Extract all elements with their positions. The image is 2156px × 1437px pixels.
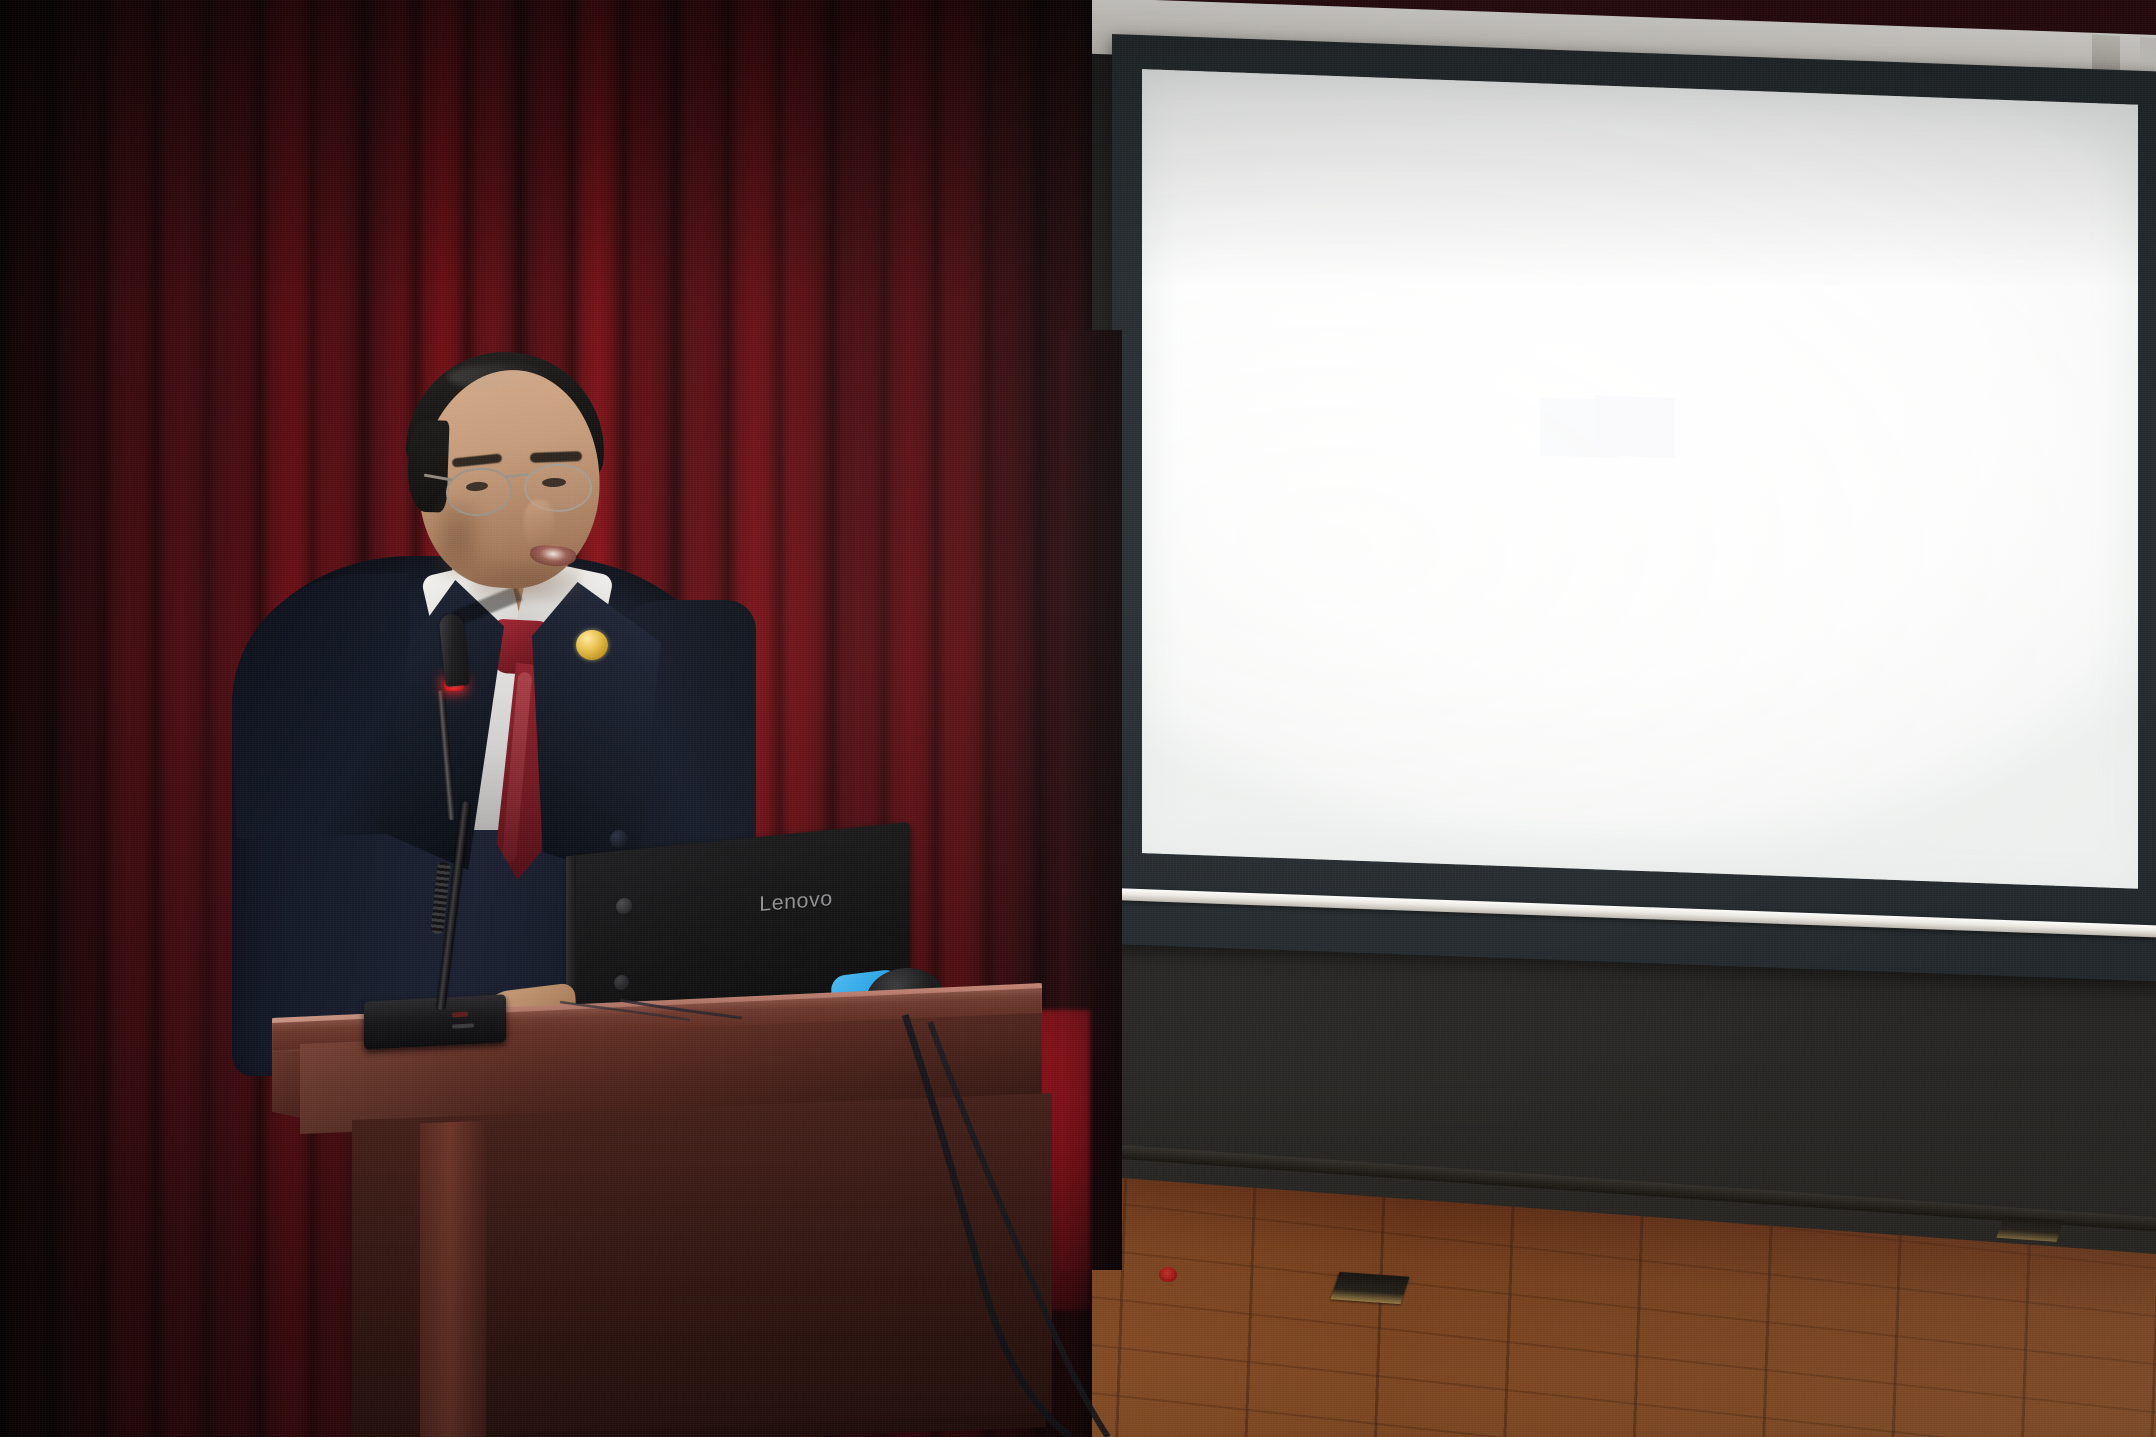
projection-screen-surface	[1142, 69, 2138, 889]
projection-screen	[1112, 34, 2156, 982]
chin-shadow	[470, 562, 580, 602]
nose	[524, 500, 554, 552]
hair-highlight	[448, 364, 552, 390]
floor-outlet-panel	[1330, 1272, 1409, 1304]
screen-housing-label	[2140, 37, 2156, 66]
eyebrow-right	[530, 451, 582, 463]
microphone-base[interactable]	[364, 994, 506, 1049]
floor-outlet-panel-2	[1996, 1216, 2063, 1242]
hair-sideburn	[406, 419, 449, 512]
screen-faint-block-b	[1595, 395, 1675, 458]
photo-scene: Lenovo	[0, 0, 2156, 1437]
lectern-leg	[420, 1121, 486, 1437]
jacket-button-upper	[610, 830, 628, 848]
microphone-base-indicator	[452, 1012, 468, 1018]
emblem-lapel-pin-icon	[576, 630, 608, 660]
emblem-lapel-pin-center	[1159, 1267, 1177, 1282]
